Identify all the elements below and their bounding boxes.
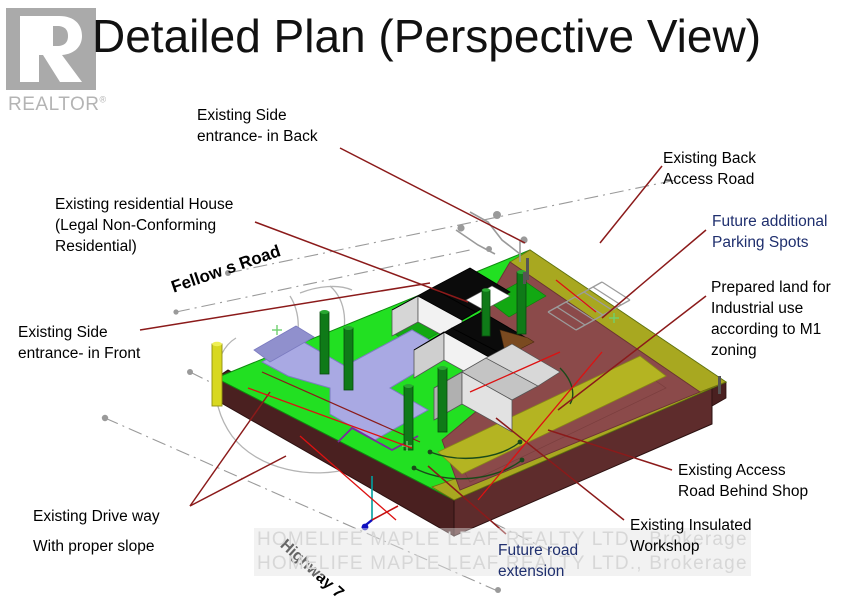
annotation-existing-access-road-shop: Existing Access Road Behind Shop <box>678 460 808 502</box>
annotation-existing-insulated-workshop: Existing Insulated Workshop <box>630 515 752 557</box>
dimension-endpoint-dots <box>457 211 527 252</box>
tree-cylinder-3 <box>404 384 413 450</box>
yellow-marker-pole <box>212 342 222 406</box>
leader-future-parking <box>602 230 706 318</box>
tree-cylinder-1 <box>320 310 329 374</box>
annotation-existing-residential-house: Existing residential House (Legal Non-Co… <box>55 194 233 257</box>
annotation-existing-drive-way: Existing Drive way <box>33 506 160 527</box>
leader-drive-way-b <box>190 456 286 506</box>
leader-side-entrance-back <box>340 148 525 243</box>
annotation-with-proper-slope: With proper slope <box>33 536 154 557</box>
annotation-existing-side-entrance-front: Existing Side entrance- in Front <box>18 322 140 364</box>
annotation-existing-side-entrance-back: Existing Side entrance- in Back <box>197 105 318 147</box>
leader-drive-way-a <box>190 392 270 506</box>
tree-cylinder-2 <box>344 326 353 390</box>
plan-page: REALTOR® Detailed Plan (Perspective View… <box>0 0 855 600</box>
tree-cylinder-6 <box>482 288 490 336</box>
annotation-existing-back-access-road: Existing Back Access Road <box>663 148 756 190</box>
annotation-future-additional-parking: Future additional Parking Spots <box>712 211 827 253</box>
tree-cylinder-4 <box>438 366 447 432</box>
annotation-prepared-land-industrial: Prepared land for Industrial use accordi… <box>711 277 831 361</box>
leader-back-access-road <box>600 166 662 243</box>
leader-residential-house <box>255 222 468 302</box>
annotation-future-road-extension: Future road extension <box>498 540 578 582</box>
